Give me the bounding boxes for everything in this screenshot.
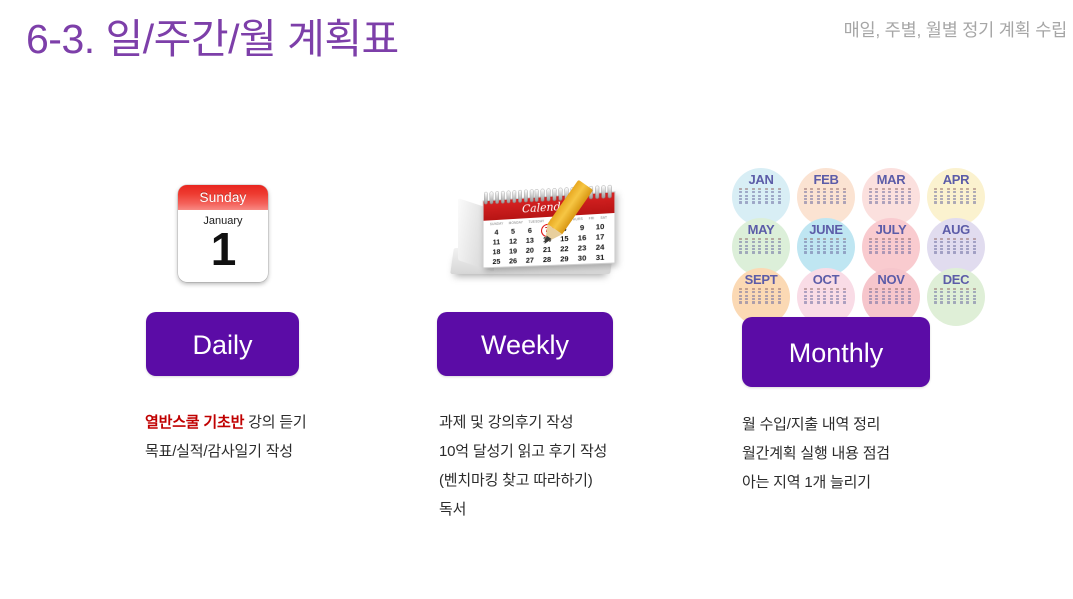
date-dot (940, 188, 943, 190)
date-dot (804, 245, 807, 247)
date-dot (758, 301, 761, 303)
date-dot (804, 291, 807, 293)
date-dot (901, 291, 904, 293)
month-circle-date-dots (804, 288, 848, 304)
date-dot (908, 301, 911, 303)
date-dot (836, 245, 839, 247)
date-dot (940, 191, 943, 193)
date-dot (869, 188, 872, 190)
date-dot (869, 295, 872, 297)
date-dot (817, 188, 820, 190)
date-dot (947, 241, 950, 243)
date-dot (875, 238, 878, 240)
date-dot (810, 191, 813, 193)
date-dot (960, 298, 963, 300)
monthly-line1: 월 수입/지출 내역 정리 (742, 416, 880, 433)
date-dot (810, 245, 813, 247)
date-dot (739, 248, 742, 250)
month-circle-label: JUNE (809, 223, 842, 236)
date-dot (875, 288, 878, 290)
month-circle-date-dots (804, 238, 848, 254)
month-circle-date-dots (934, 288, 978, 304)
spiral-ring (490, 192, 493, 204)
date-dot (830, 251, 833, 253)
date-dot (758, 195, 761, 197)
date-dot (739, 195, 742, 197)
date-dot (758, 198, 761, 200)
date-dot (934, 201, 937, 203)
month-circle-label: DEC (943, 273, 970, 286)
date-dot (765, 241, 768, 243)
date-dot (960, 198, 963, 200)
date-dot (960, 291, 963, 293)
date-dot (960, 191, 963, 193)
date-dot (888, 295, 891, 297)
dow-5: FRI (589, 216, 595, 220)
date-dot (778, 298, 781, 300)
date-dot (758, 201, 761, 203)
date-dot (934, 198, 937, 200)
date-dot (823, 288, 826, 290)
date-dot (752, 288, 755, 290)
date-dot (973, 291, 976, 293)
month-circle-label: MAR (877, 173, 906, 186)
date-dot (778, 238, 781, 240)
list-item: 목표/실적/감사일기 작성 (145, 437, 405, 466)
date-dot (804, 288, 807, 290)
date-dot (836, 291, 839, 293)
date-dot (966, 291, 969, 293)
date-dot (810, 198, 813, 200)
spiral-ring (501, 191, 504, 203)
date-dot (973, 201, 976, 203)
date-dot (745, 291, 748, 293)
date-dot (758, 188, 761, 190)
date-dot (895, 195, 898, 197)
date-dot (934, 195, 937, 197)
date-dot (804, 191, 807, 193)
list-item: 열반스쿨 기초반 강의 듣기 (145, 408, 405, 437)
date-dot (895, 248, 898, 250)
date-dot (934, 251, 937, 253)
date-dot (817, 295, 820, 297)
weekly-line1: 과제 및 강의후기 작성 (439, 414, 573, 431)
date-dot (934, 288, 937, 290)
date-dot (882, 241, 885, 243)
list-item: 독서 (439, 495, 699, 524)
date-dot (765, 251, 768, 253)
date-dot (771, 201, 774, 203)
date-dot (888, 198, 891, 200)
spiral-ring (547, 189, 550, 201)
date-dot (882, 298, 885, 300)
date-dot (817, 248, 820, 250)
date-dot (745, 238, 748, 240)
date-dot (973, 298, 976, 300)
spiral-ring (553, 188, 556, 200)
month-circle-dec: DEC (927, 268, 985, 326)
date-dot (953, 191, 956, 193)
date-dot (869, 298, 872, 300)
date-dot (830, 291, 833, 293)
date-dot (752, 251, 755, 253)
date-dot (765, 245, 768, 247)
weekly-button[interactable]: Weekly (437, 312, 613, 376)
date-dot (934, 188, 937, 190)
desk-calendar-pencil-icon: Calendar SUNDAY MONDAY TUESDAY WEDNES TH… (442, 174, 632, 294)
spiral-ring (524, 190, 527, 202)
date-dot (875, 298, 878, 300)
date-dot (966, 195, 969, 197)
calendar-date-27: 27 (521, 255, 538, 266)
date-dot (823, 238, 826, 240)
date-dot (966, 251, 969, 253)
date-dot (739, 251, 742, 253)
date-dot (882, 301, 885, 303)
date-dot (940, 295, 943, 297)
date-dot (966, 191, 969, 193)
date-dot (953, 198, 956, 200)
date-dot (953, 291, 956, 293)
date-dot (771, 245, 774, 247)
calendar-date-25: 25 (488, 257, 504, 267)
date-dot (973, 241, 976, 243)
date-dot (934, 245, 937, 247)
calendar-date-31: 31 (591, 252, 609, 263)
date-dot (765, 301, 768, 303)
date-dot (895, 251, 898, 253)
date-dot (830, 288, 833, 290)
date-dot (901, 245, 904, 247)
date-dot (908, 188, 911, 190)
date-dot (836, 241, 839, 243)
date-dot (882, 191, 885, 193)
date-dot (765, 191, 768, 193)
date-dot (947, 191, 950, 193)
date-dot (953, 238, 956, 240)
date-dot (966, 288, 969, 290)
date-dot (765, 291, 768, 293)
date-dot (882, 295, 885, 297)
date-dot (966, 241, 969, 243)
spiral-ring (530, 190, 533, 202)
date-dot (745, 201, 748, 203)
date-dot (817, 198, 820, 200)
date-dot (869, 251, 872, 253)
date-dot (745, 245, 748, 247)
date-dot (771, 295, 774, 297)
date-dot (869, 195, 872, 197)
date-dot (752, 201, 755, 203)
date-dot (973, 198, 976, 200)
date-dot (947, 201, 950, 203)
date-dot (804, 248, 807, 250)
date-dot (940, 198, 943, 200)
date-dot (830, 238, 833, 240)
date-dot (882, 188, 885, 190)
date-dot (875, 251, 878, 253)
dow-0: SUNDAY (490, 222, 503, 227)
date-dot (973, 238, 976, 240)
date-dot (882, 245, 885, 247)
date-dot (745, 198, 748, 200)
daily-line1-rest: 강의 듣기 (244, 414, 306, 431)
date-dot (771, 251, 774, 253)
date-dot (739, 295, 742, 297)
date-dot (940, 195, 943, 197)
date-dot (830, 301, 833, 303)
spiral-ring (541, 189, 544, 201)
date-dot (908, 195, 911, 197)
date-dot (778, 195, 781, 197)
date-dot (739, 241, 742, 243)
date-dot (882, 195, 885, 197)
date-dot (947, 288, 950, 290)
date-dot (940, 248, 943, 250)
date-dot (823, 198, 826, 200)
date-dot (778, 291, 781, 293)
date-dot (843, 238, 846, 240)
date-dot (810, 251, 813, 253)
date-dot (869, 201, 872, 203)
date-dot (966, 245, 969, 247)
date-dot (901, 295, 904, 297)
date-dot (947, 245, 950, 247)
date-dot (843, 201, 846, 203)
date-dot (823, 291, 826, 293)
date-dot (836, 301, 839, 303)
date-dot (745, 295, 748, 297)
month-circle-label: AUG (942, 223, 970, 236)
dow-1: MONDAY (509, 220, 523, 225)
date-dot (947, 301, 950, 303)
list-item: (벤치마킹 찾고 따라하기) (439, 466, 699, 495)
month-circle-date-dots (869, 288, 913, 304)
monthly-button[interactable]: Monthly (742, 317, 930, 387)
date-dot (836, 195, 839, 197)
date-dot (804, 295, 807, 297)
date-dot (901, 298, 904, 300)
date-dot (895, 298, 898, 300)
date-dot (771, 241, 774, 243)
date-dot (778, 191, 781, 193)
month-circle-label: OCT (813, 273, 840, 286)
date-dot (934, 238, 937, 240)
month-circle-label: MAY (748, 223, 775, 236)
date-dot (765, 295, 768, 297)
date-dot (843, 301, 846, 303)
date-dot (888, 188, 891, 190)
date-dot (745, 301, 748, 303)
date-dot (953, 251, 956, 253)
date-dot (960, 248, 963, 250)
date-dot (739, 238, 742, 240)
month-circle-label: JAN (748, 173, 773, 186)
date-dot (817, 201, 820, 203)
date-dot (953, 195, 956, 197)
date-dot (895, 201, 898, 203)
date-dot (908, 201, 911, 203)
date-dot (843, 195, 846, 197)
month-circle-label: SEPT (745, 273, 778, 286)
date-dot (758, 295, 761, 297)
date-dot (739, 191, 742, 193)
date-dot (888, 195, 891, 197)
date-dot (830, 201, 833, 203)
date-dot (804, 198, 807, 200)
dow-6: SAT (600, 215, 607, 220)
date-dot (940, 251, 943, 253)
date-dot (947, 195, 950, 197)
date-dot (901, 191, 904, 193)
date-dot (888, 298, 891, 300)
daily-button[interactable]: Daily (146, 312, 299, 376)
date-dot (895, 238, 898, 240)
date-dot (869, 191, 872, 193)
slide-canvas: 6-3. 일/주간/월 계획표 매일, 주별, 월별 정기 계획 수립 Sund… (0, 0, 1073, 599)
date-dot (810, 238, 813, 240)
date-dot (823, 298, 826, 300)
spiral-ring (507, 191, 510, 203)
column-monthly: JANFEBMARAPRMAYJUNEJULYAUGSEPTOCTNOVDEC … (722, 160, 1002, 295)
date-dot (758, 298, 761, 300)
spiral-ring (602, 186, 605, 198)
date-dot (947, 198, 950, 200)
date-dot (966, 201, 969, 203)
date-dot (888, 238, 891, 240)
date-dot (778, 241, 781, 243)
month-circle-label: FEB (813, 173, 838, 186)
date-dot (752, 245, 755, 247)
spiral-ring (496, 192, 499, 204)
date-dot (888, 291, 891, 293)
monthly-icon-area: JANFEBMARAPRMAYJUNEJULYAUGSEPTOCTNOVDEC (722, 160, 1002, 295)
date-dot (882, 288, 885, 290)
date-dot (823, 188, 826, 190)
date-dot (843, 295, 846, 297)
date-dot (771, 191, 774, 193)
date-dot (752, 191, 755, 193)
date-dot (843, 248, 846, 250)
date-dot (771, 198, 774, 200)
date-dot (739, 198, 742, 200)
page-subtitle: 매일, 주별, 월별 정기 계획 수립 (844, 17, 1067, 42)
date-dot (778, 201, 781, 203)
date-dot (895, 241, 898, 243)
date-dot (947, 295, 950, 297)
date-dot (758, 248, 761, 250)
month-circle-date-dots (934, 188, 978, 204)
date-dot (778, 288, 781, 290)
date-dot (836, 248, 839, 250)
date-dot (973, 288, 976, 290)
date-dot (940, 301, 943, 303)
date-dot (947, 291, 950, 293)
date-dot (817, 191, 820, 193)
weekly-text-block: 과제 및 강의후기 작성 10억 달성기 읽고 후기 작성 (벤치마킹 찾고 따… (439, 408, 699, 524)
date-dot (810, 298, 813, 300)
date-dot (953, 245, 956, 247)
date-dot (836, 251, 839, 253)
weekly-line4: 독서 (439, 501, 466, 518)
date-dot (836, 238, 839, 240)
spiral-ring (484, 192, 487, 204)
date-dot (869, 248, 872, 250)
page-title: 6-3. 일/주간/월 계획표 (26, 5, 399, 65)
date-dot (888, 241, 891, 243)
date-dot (901, 238, 904, 240)
date-dot (960, 188, 963, 190)
date-dot (875, 201, 878, 203)
date-dot (752, 241, 755, 243)
date-dot (843, 291, 846, 293)
date-dot (758, 291, 761, 293)
date-dot (830, 198, 833, 200)
date-dot (934, 291, 937, 293)
date-dot (966, 188, 969, 190)
date-dot (745, 298, 748, 300)
date-dot (843, 298, 846, 300)
date-dot (960, 241, 963, 243)
date-dot (745, 188, 748, 190)
daily-text-block: 열반스쿨 기초반 강의 듣기 목표/실적/감사일기 작성 (145, 408, 405, 466)
date-dot (895, 198, 898, 200)
date-dot (947, 251, 950, 253)
date-dot (778, 198, 781, 200)
date-dot (758, 288, 761, 290)
date-dot (836, 288, 839, 290)
date-dot (953, 295, 956, 297)
date-dot (908, 248, 911, 250)
date-dot (739, 291, 742, 293)
date-dot (973, 188, 976, 190)
date-dot (960, 238, 963, 240)
date-dot (908, 198, 911, 200)
date-dot (953, 301, 956, 303)
weekly-line3: (벤치마킹 찾고 따라하기) (439, 472, 593, 489)
date-dot (953, 201, 956, 203)
date-dot (823, 191, 826, 193)
date-dot (817, 288, 820, 290)
date-dot (830, 248, 833, 250)
date-dot (908, 191, 911, 193)
date-dot (940, 245, 943, 247)
spiral-ring (513, 191, 516, 203)
date-dot (752, 198, 755, 200)
date-dot (901, 248, 904, 250)
date-dot (810, 188, 813, 190)
spiral-ring (608, 185, 611, 198)
month-circle-date-dots (934, 238, 978, 254)
date-dot (817, 195, 820, 197)
date-dot (810, 201, 813, 203)
date-dot (810, 295, 813, 297)
date-dot (973, 245, 976, 247)
date-dot (836, 191, 839, 193)
date-dot (901, 288, 904, 290)
date-dot (778, 301, 781, 303)
date-dot (875, 188, 878, 190)
date-dot (973, 301, 976, 303)
date-dot (843, 251, 846, 253)
month-circle-label: JULY (876, 223, 907, 236)
date-dot (804, 301, 807, 303)
date-dot (908, 238, 911, 240)
date-dot (830, 191, 833, 193)
date-dot (836, 198, 839, 200)
date-dot (804, 298, 807, 300)
day-calendar-weekday: Sunday (178, 185, 268, 210)
